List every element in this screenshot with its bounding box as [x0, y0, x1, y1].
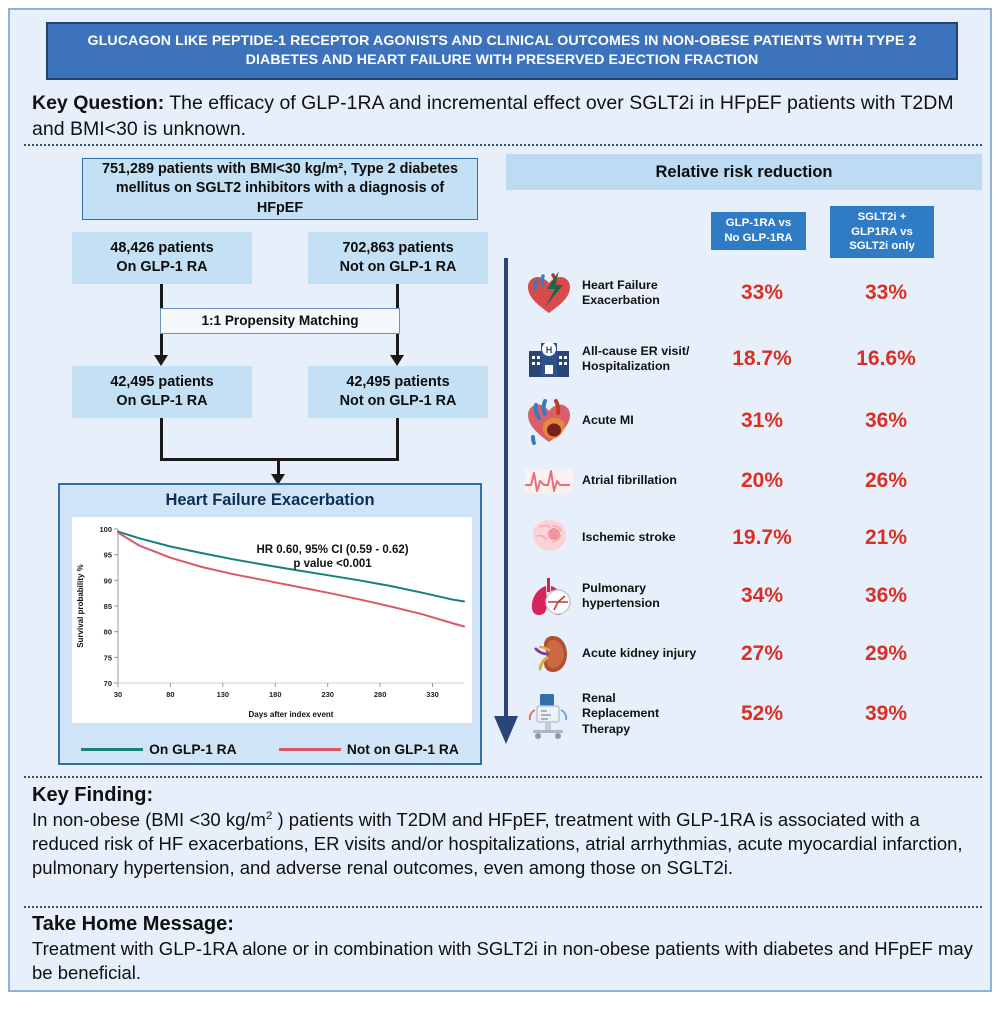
connector-line: [160, 418, 163, 458]
svg-text:230: 230: [321, 690, 334, 699]
flow-box-propensity-matching: 1:1 Propensity Matching: [160, 308, 400, 334]
take-home-text: Treatment with GLP-1RA alone or in combi…: [32, 937, 978, 985]
rrr-header: Relative risk reduction: [506, 154, 982, 190]
outcome-value-col1: 52%: [706, 702, 818, 726]
outcome-label: RenalReplacementTherapy: [578, 691, 706, 736]
legend-label: Not on GLP-1 RA: [347, 742, 459, 757]
lungs-icon: [520, 567, 578, 625]
svg-text:85: 85: [104, 602, 112, 611]
flow-box-on-glp1-post: 42,495 patientsOn GLP-1 RA: [72, 366, 252, 418]
key-finding-text-part1: In non-obese (BMI <30 kg/m: [32, 809, 266, 830]
infarcted-heart-icon: [520, 392, 578, 450]
svg-text:130: 130: [217, 690, 230, 699]
svg-text:80: 80: [166, 690, 174, 699]
legend-item-on-glp1: On GLP-1 RA: [81, 742, 236, 757]
ecg-waveform-icon: [520, 452, 578, 510]
connector-line: [160, 334, 163, 356]
column-header-glp1ra-vs-no-glp1ra: GLP-1RA vsNo GLP-1RA: [711, 212, 806, 250]
outcome-value-col2: 16.6%: [826, 347, 946, 371]
outcome-row: Ischemic stroke19.7%21%: [520, 507, 980, 569]
legend-swatch-green: [81, 748, 143, 752]
svg-text:330: 330: [426, 690, 439, 699]
legend-item-not-on-glp1: Not on GLP-1 RA: [279, 742, 459, 757]
outcome-value-col2: 36%: [826, 409, 946, 433]
connector-line: [396, 334, 399, 356]
outcome-value-col1: 33%: [706, 281, 818, 305]
outcome-label: Atrial fibrillation: [578, 473, 706, 488]
svg-text:100: 100: [99, 525, 112, 534]
outcome-label: Acute kidney injury: [578, 646, 706, 661]
kidney-icon: [520, 625, 578, 683]
key-finding-heading: Key Finding:: [32, 784, 978, 807]
key-finding-text: In non-obese (BMI <30 kg/m2 ) patients w…: [32, 808, 978, 880]
outcome-value-col2: 29%: [826, 642, 946, 666]
brain-icon: [520, 509, 578, 567]
flow-box-not-on-glp1-post: 42,495 patientsNot on GLP-1 RA: [308, 366, 488, 418]
arrowhead-icon: [390, 355, 404, 366]
svg-text:80: 80: [104, 628, 112, 637]
svg-text:HR 0.60, 95% CI (0.59 - 0.62): HR 0.60, 95% CI (0.59 - 0.62): [256, 544, 408, 556]
svg-text:p value <0.001: p value <0.001: [293, 558, 372, 570]
connector-line: [160, 284, 163, 308]
outcome-row: RenalReplacementTherapy52%39%: [520, 683, 980, 745]
svg-text:180: 180: [269, 690, 282, 699]
take-home-heading: Take Home Message:: [32, 913, 978, 936]
outcome-row: Atrial fibrillation20%26%: [520, 450, 980, 512]
svg-text:75: 75: [104, 653, 112, 662]
outcome-value-col2: 39%: [826, 702, 946, 726]
outcome-value-col1: 19.7%: [706, 526, 818, 550]
legend-label: On GLP-1 RA: [149, 742, 236, 757]
svg-text:Days after index event: Days after index event: [249, 710, 334, 719]
chart-title: Heart Failure Exacerbation: [60, 491, 480, 510]
survival-chart-card: Heart Failure Exacerbation 7075808590951…: [58, 483, 482, 765]
relative-risk-reduction-panel: Relative risk reduction GLP-1RA vsNo GLP…: [494, 150, 994, 780]
outcome-label: Ischemic stroke: [578, 530, 706, 545]
arrowhead-icon: [154, 355, 168, 366]
outcome-value-col1: 27%: [706, 642, 818, 666]
flow-box-cohort: 751,289 patients with BMI<30 kg/m², Type…: [82, 158, 478, 220]
legend-swatch-red: [279, 748, 341, 752]
column-header-sglt2i-combo: SGLT2i +GLP1RA vsSGLT2i only: [830, 206, 934, 258]
outcome-label: Pulmonaryhypertension: [578, 581, 706, 611]
svg-text:H: H: [546, 345, 553, 355]
svg-text:90: 90: [104, 576, 112, 585]
outcome-row: HAll-cause ER visit/Hospitalization18.7%…: [520, 328, 980, 390]
outcome-value-col1: 34%: [706, 584, 818, 608]
km-curve-svg: 7075808590951003080130180230280330Days a…: [72, 517, 472, 723]
outcome-value-col1: 20%: [706, 469, 818, 493]
poster-root: GLUCAGON LIKE PEPTIDE-1 RECEPTOR AGONIST…: [8, 8, 992, 992]
chart-plot-area: 7075808590951003080130180230280330Days a…: [72, 517, 472, 723]
outcome-row: Acute MI31%36%: [520, 390, 980, 452]
take-home-block: Take Home Message: Treatment with GLP-1R…: [32, 913, 978, 985]
outcome-row: Pulmonaryhypertension34%36%: [520, 565, 980, 627]
connector-line: [396, 284, 399, 308]
chart-legend: On GLP-1 RA Not on GLP-1 RA: [60, 742, 480, 757]
outcome-flow-arrow-shaft: [504, 258, 508, 718]
svg-text:Survival probability %: Survival probability %: [76, 564, 85, 648]
key-finding-block: Key Finding: In non-obese (BMI <30 kg/m2…: [32, 784, 978, 880]
svg-text:95: 95: [104, 551, 112, 560]
outcome-value-col2: 33%: [826, 281, 946, 305]
outcome-value-col2: 36%: [826, 584, 946, 608]
outcome-row: Heart FailureExacerbation33%33%: [520, 262, 980, 324]
flow-box-not-on-glp1-pre: 702,863 patientsNot on GLP-1 RA: [308, 232, 488, 284]
outcome-label: Heart FailureExacerbation: [578, 278, 706, 308]
svg-text:30: 30: [114, 690, 122, 699]
connector-line: [396, 418, 399, 458]
outcome-label: Acute MI: [578, 413, 706, 428]
outcome-row: Acute kidney injury27%29%: [520, 623, 980, 685]
dialysis-machine-icon: [520, 685, 578, 743]
outcome-flow-arrow-head-icon: [494, 716, 518, 744]
svg-text:70: 70: [104, 679, 112, 688]
outcome-value-col2: 21%: [826, 526, 946, 550]
outcome-label: All-cause ER visit/Hospitalization: [578, 344, 706, 374]
hospital-icon: H: [520, 330, 578, 388]
outcome-value-col1: 18.7%: [706, 347, 818, 371]
outcome-value-col2: 26%: [826, 469, 946, 493]
flow-box-on-glp1-pre: 48,426 patientsOn GLP-1 RA: [72, 232, 252, 284]
heart-lightning-icon: [520, 264, 578, 322]
svg-text:280: 280: [374, 690, 387, 699]
outcome-value-col1: 31%: [706, 409, 818, 433]
